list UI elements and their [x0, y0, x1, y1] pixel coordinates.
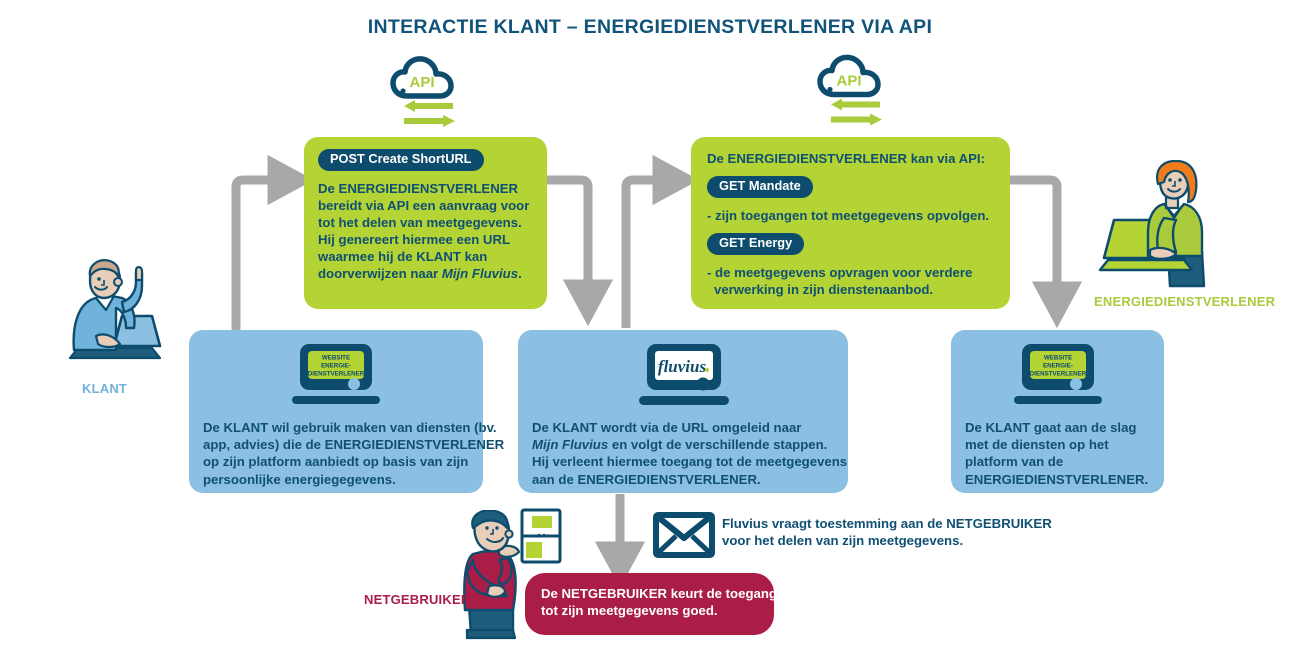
bb3-line-3: platform van de	[965, 453, 1150, 470]
api-cloud-right: API	[817, 52, 887, 130]
green-box-api-calls: De ENERGIEDIENSTVERLENER kan via API: GE…	[691, 137, 1010, 309]
gb1-line-6-suffix: .	[518, 266, 522, 281]
blue-box-klant-aan-de-slag: WEBSITE ENERGIE- DIENSTVERLENER De KLANT…	[951, 330, 1164, 493]
arrow-green2-to-blue3	[1010, 180, 1057, 302]
diagram-canvas: INTERACTIE KLANT – ENERGIEDIENSTVERLENER…	[0, 0, 1300, 660]
green-box-post-create-shorturl: POST Create ShortURL De ENERGIEDIENSTVER…	[304, 137, 547, 309]
envelope-note-line-1: Fluvius vraagt toestemming aan de NETGEB…	[722, 515, 1052, 532]
arrow-blue2-to-green2	[626, 180, 673, 328]
pill-get-energy[interactable]: GET Energy	[707, 233, 804, 255]
bb1-line-2: app, advies) die de ENERGIEDIENSTVERLENE…	[203, 436, 469, 453]
label-energiedienstverlener: ENERGIEDIENSTVERLENER	[1094, 294, 1275, 309]
redbox-line-2: tot zijn meetgegevens goed.	[541, 602, 758, 619]
gb1-line-3: tot het delen van meetgegevens.	[318, 214, 533, 231]
bb3-line-2: met de diensten op het	[965, 436, 1150, 453]
screen-line-2: ENERGIE-	[321, 363, 351, 370]
envelope-icon	[653, 512, 715, 558]
pill-post-create-shorturl[interactable]: POST Create ShortURL	[318, 149, 484, 171]
character-klant	[52, 258, 177, 368]
svg-text:API: API	[409, 74, 434, 91]
envelope-note: Fluvius vraagt toestemming aan de NETGEB…	[722, 515, 1052, 550]
svg-text:API: API	[836, 73, 861, 90]
gb2-heading: De ENERGIEDIENSTVERLENER kan via API:	[707, 150, 994, 167]
gb2-item-2-text: - de meetgegevens opvragen voor verdere	[707, 264, 994, 281]
bb2-line-1: De KLANT wordt via de URL omgeleid naar	[532, 419, 834, 436]
netgebruiker-illustration	[455, 510, 533, 642]
fluvius-logo-text: fluvius	[658, 357, 707, 376]
red-box-netgebruiker-keurt-goed: De NETGEBRUIKER keurt de toegang tot zij…	[525, 573, 774, 635]
arrow-green1-to-blue2	[547, 180, 588, 300]
klant-illustration	[52, 258, 177, 368]
gb1-line-4: Hij genereert hiermee een URL	[318, 231, 533, 248]
gb1-line-6: doorverwijzen naar Mijn Fluvius.	[318, 265, 533, 282]
api-cloud-icon: API	[390, 55, 460, 130]
screen-line-1: WEBSITE	[322, 355, 350, 362]
label-klant: KLANT	[82, 381, 127, 396]
screen-line-2: ENERGIE-	[1043, 363, 1073, 370]
gb1-line-1: De ENERGIEDIENSTVERLENER	[318, 180, 533, 197]
screen-line-3: DIENSTVERLENER	[1029, 371, 1086, 378]
bb3-line-1: De KLANT gaat aan de slag	[965, 419, 1150, 436]
website-monitor-icon: WEBSITE ENERGIE- DIENSTVERLENER	[1004, 342, 1112, 408]
gb1-line-5: waarmee hij de KLANT kan	[318, 248, 533, 265]
bb1-line-4: persoonlijke energiegegevens.	[203, 471, 469, 488]
gb1-line-6-prefix: doorverwijzen naar	[318, 266, 442, 281]
envelope-note-line-2: voor het delen van zijn meetgegevens.	[722, 532, 1052, 549]
api-cloud-icon: API	[817, 52, 887, 130]
bb2-line-2: Mijn Fluvius en volgt de verschillende s…	[532, 436, 834, 453]
fluvius-monitor-icon: fluvius	[627, 342, 739, 408]
character-energiedienstverlener	[1092, 160, 1232, 290]
envelope-icon-wrap	[653, 512, 715, 558]
bb2-line-2-italic: Mijn Fluvius	[532, 437, 608, 452]
screen-line-3: DIENSTVERLENER	[308, 371, 365, 378]
blue-box-klant-wil-gebruik: WEBSITE ENERGIE- DIENSTVERLENER De KLANT…	[189, 330, 483, 493]
bb2-line-3: Hij verleent hiermee toegang tot de meet…	[532, 453, 834, 470]
pill-get-mandate[interactable]: GET Mandate	[707, 176, 813, 198]
blue-box-klant-omgeleid: fluvius De KLANT wordt via de URL omgele…	[518, 330, 848, 493]
bb2-line-4: aan de ENERGIEDIENSTVERLENER.	[532, 471, 834, 488]
gb2-item-1-text: - zijn toegangen tot meetgegevens opvolg…	[707, 207, 994, 224]
bb3-line-4: ENERGIEDIENSTVERLENER.	[965, 471, 1150, 488]
eds-illustration	[1092, 160, 1232, 290]
bb1-line-1: De KLANT wil gebruik maken van diensten …	[203, 419, 469, 436]
gb1-line-6-italic: Mijn Fluvius	[442, 266, 518, 281]
api-cloud-left: API	[390, 55, 460, 130]
bb2-line-2-rest: en volgt de verschillende stappen.	[608, 437, 827, 452]
arrow-blue1-to-green1	[236, 180, 288, 330]
screen-line-1: WEBSITE	[1043, 355, 1071, 362]
website-monitor-icon: WEBSITE ENERGIE- DIENSTVERLENER	[282, 342, 390, 408]
bb1-line-3: op zijn platform aanbiedt op basis van z…	[203, 453, 469, 470]
label-netgebruiker: NETGEBRUIKER	[364, 592, 470, 607]
gb2-item-2-text2: verwerking in zijn dienstenaanbod.	[707, 281, 994, 298]
character-netgebruiker	[455, 510, 533, 642]
gb1-line-2: bereidt via API een aanvraag voor	[318, 197, 533, 214]
redbox-line-1: De NETGEBRUIKER keurt de toegang	[541, 585, 758, 602]
